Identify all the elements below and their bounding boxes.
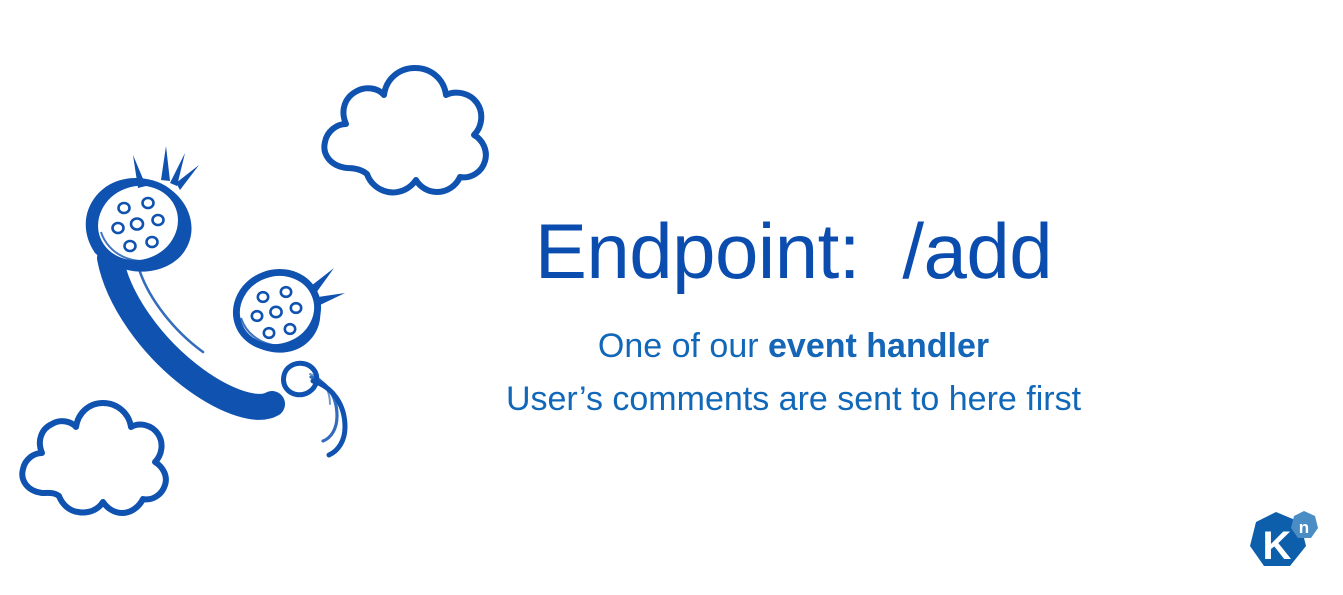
subtitle-line-2: User’s comments are sent to here first <box>460 373 1127 426</box>
page-title: Endpoint: /add <box>460 212 1127 290</box>
subtitle-line-1-prefix: One of our <box>598 327 768 365</box>
cloud-bottom-icon <box>22 403 166 513</box>
subtitle-line-1-emphasis: event handler <box>768 327 989 365</box>
cloud-top-icon <box>324 68 485 192</box>
logo-letter-n: n <box>1299 518 1309 537</box>
subtitle-line-1: One of our event handler <box>460 320 1127 373</box>
logo-letter-k: K <box>1263 524 1292 568</box>
telephone-handset-icon <box>82 146 345 455</box>
slide-canvas: Endpoint: /add One of our event handler … <box>0 0 1343 595</box>
slide-text-block: Endpoint: /add One of our event handler … <box>460 212 1127 426</box>
brand-logo[interactable]: K n <box>1248 508 1320 580</box>
